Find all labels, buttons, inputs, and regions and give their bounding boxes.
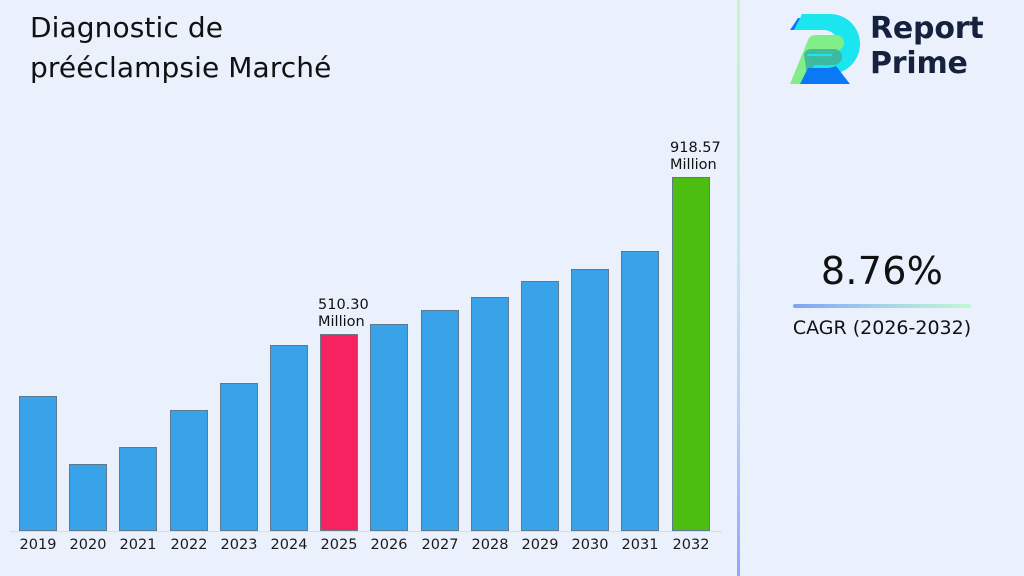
x-tick-2026: 2026 — [364, 537, 414, 553]
cagr-label: CAGR (2026-2032) — [740, 317, 1024, 339]
brand-name-line-1: Report — [870, 12, 983, 47]
x-tick-2030: 2030 — [565, 537, 615, 553]
bar-2032 — [672, 177, 710, 531]
x-tick-2023: 2023 — [214, 537, 264, 553]
bar-2027 — [421, 310, 459, 531]
cagr-divider-rule — [793, 304, 971, 308]
data-label-unit-2032: Million — [670, 157, 721, 174]
x-tick-2020: 2020 — [63, 537, 113, 553]
data-label-value-2025: 510.30 — [318, 297, 369, 314]
bar-2029 — [521, 281, 559, 531]
x-tick-2022: 2022 — [164, 537, 214, 553]
infographic-root: Diagnostic de prééclampsie Marché 201920… — [0, 0, 1024, 576]
cagr-block: 8.76% CAGR (2026-2032) — [740, 252, 1024, 339]
x-tick-2031: 2031 — [615, 537, 665, 553]
side-panel: Report Prime 8.76% CAGR (2026-2032) — [740, 0, 1024, 576]
bar-2020 — [69, 464, 107, 531]
report-prime-r-logo-icon — [774, 10, 866, 90]
x-tick-2028: 2028 — [465, 537, 515, 553]
x-tick-2027: 2027 — [415, 537, 465, 553]
bar-2030 — [571, 269, 609, 531]
x-tick-2032: 2032 — [666, 537, 716, 553]
bar-2021 — [119, 447, 157, 531]
brand-name: Report Prime — [870, 12, 983, 82]
chart-plot-area: 2019202020212022202320242025202620272028… — [0, 0, 737, 576]
x-tick-2024: 2024 — [264, 537, 314, 553]
bar-chart: 2019202020212022202320242025202620272028… — [0, 0, 737, 576]
bar-2024 — [270, 345, 308, 531]
data-label-2032: 918.57Million — [670, 140, 721, 174]
x-tick-2021: 2021 — [113, 537, 163, 553]
data-label-2025: 510.30Million — [318, 297, 369, 331]
bar-2031 — [621, 251, 659, 531]
x-tick-2029: 2029 — [515, 537, 565, 553]
bar-2026 — [370, 324, 408, 531]
bar-2023 — [220, 383, 258, 531]
bar-2025 — [320, 334, 358, 531]
brand-logo: Report Prime — [774, 8, 1000, 92]
cagr-value: 8.76% — [740, 252, 1024, 290]
data-label-unit-2025: Million — [318, 314, 369, 331]
x-tick-2019: 2019 — [13, 537, 63, 553]
x-axis-line — [10, 531, 722, 532]
bar-2019 — [19, 396, 57, 531]
brand-name-line-2: Prime — [870, 47, 983, 82]
x-tick-2025: 2025 — [314, 537, 364, 553]
bar-2022 — [170, 410, 208, 531]
data-label-value-2032: 918.57 — [670, 140, 721, 157]
bar-2028 — [471, 297, 509, 531]
